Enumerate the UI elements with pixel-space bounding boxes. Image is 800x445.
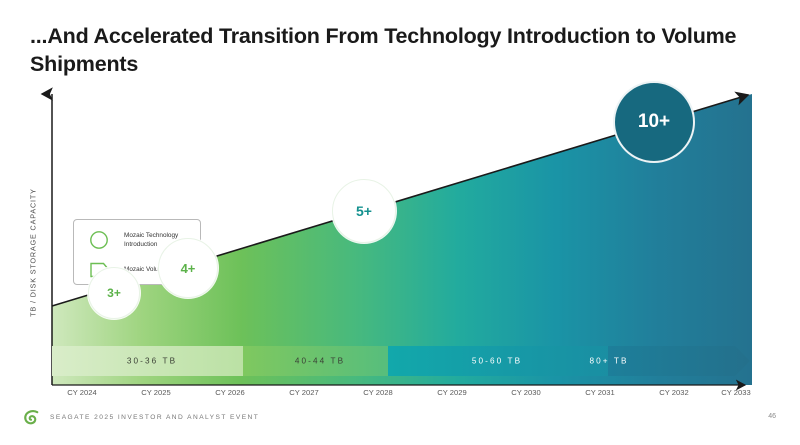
x-tick-cy-2026: CY 2026 xyxy=(215,388,244,397)
capacity-band-label-4: 80+ TB xyxy=(589,357,628,366)
seagate-spiral-logo-icon xyxy=(22,409,41,428)
page-number: 46 xyxy=(768,413,776,420)
milestone-bubble-4plus: 4+ xyxy=(158,238,218,298)
capacity-band-4 xyxy=(608,346,750,376)
x-tick-cy-2024: CY 2024 xyxy=(67,388,96,397)
y-axis-label: TB / DISK STORAGE CAPACITY xyxy=(29,173,38,333)
slide-canvas: ...And Accelerated Transition From Techn… xyxy=(0,0,800,445)
slide-footer: SEAGATE 2025 INVESTOR AND ANALYST EVENT … xyxy=(0,403,800,445)
capacity-band-label-2: 40-44 TB xyxy=(295,357,345,366)
x-tick-cy-2028: CY 2028 xyxy=(363,388,392,397)
capacity-band-label-1: 30-36 TB xyxy=(127,357,177,366)
x-tick-cy-2032: CY 2032 xyxy=(659,388,688,397)
x-tick-cy-2033: CY 2033 xyxy=(721,388,750,397)
circle-outline-icon xyxy=(88,230,114,250)
x-tick-cy-2031: CY 2031 xyxy=(585,388,614,397)
milestone-bubble-5plus: 5+ xyxy=(332,179,396,243)
x-tick-cy-2030: CY 2030 xyxy=(511,388,540,397)
page-title: ...And Accelerated Transition From Techn… xyxy=(30,22,750,79)
capacity-band-label-3: 50-60 TB xyxy=(472,357,522,366)
footer-event-label: SEAGATE 2025 INVESTOR AND ANALYST EVENT xyxy=(50,414,259,421)
x-tick-cy-2025: CY 2025 xyxy=(141,388,170,397)
chart-area: TB / DISK STORAGE CAPACITY Mozaic Techno… xyxy=(0,80,800,400)
x-tick-cy-2029: CY 2029 xyxy=(437,388,466,397)
milestone-bubble-3plus: 3+ xyxy=(88,267,140,319)
x-tick-cy-2027: CY 2027 xyxy=(289,388,318,397)
milestone-bubble-10plus: 10+ xyxy=(613,81,695,163)
